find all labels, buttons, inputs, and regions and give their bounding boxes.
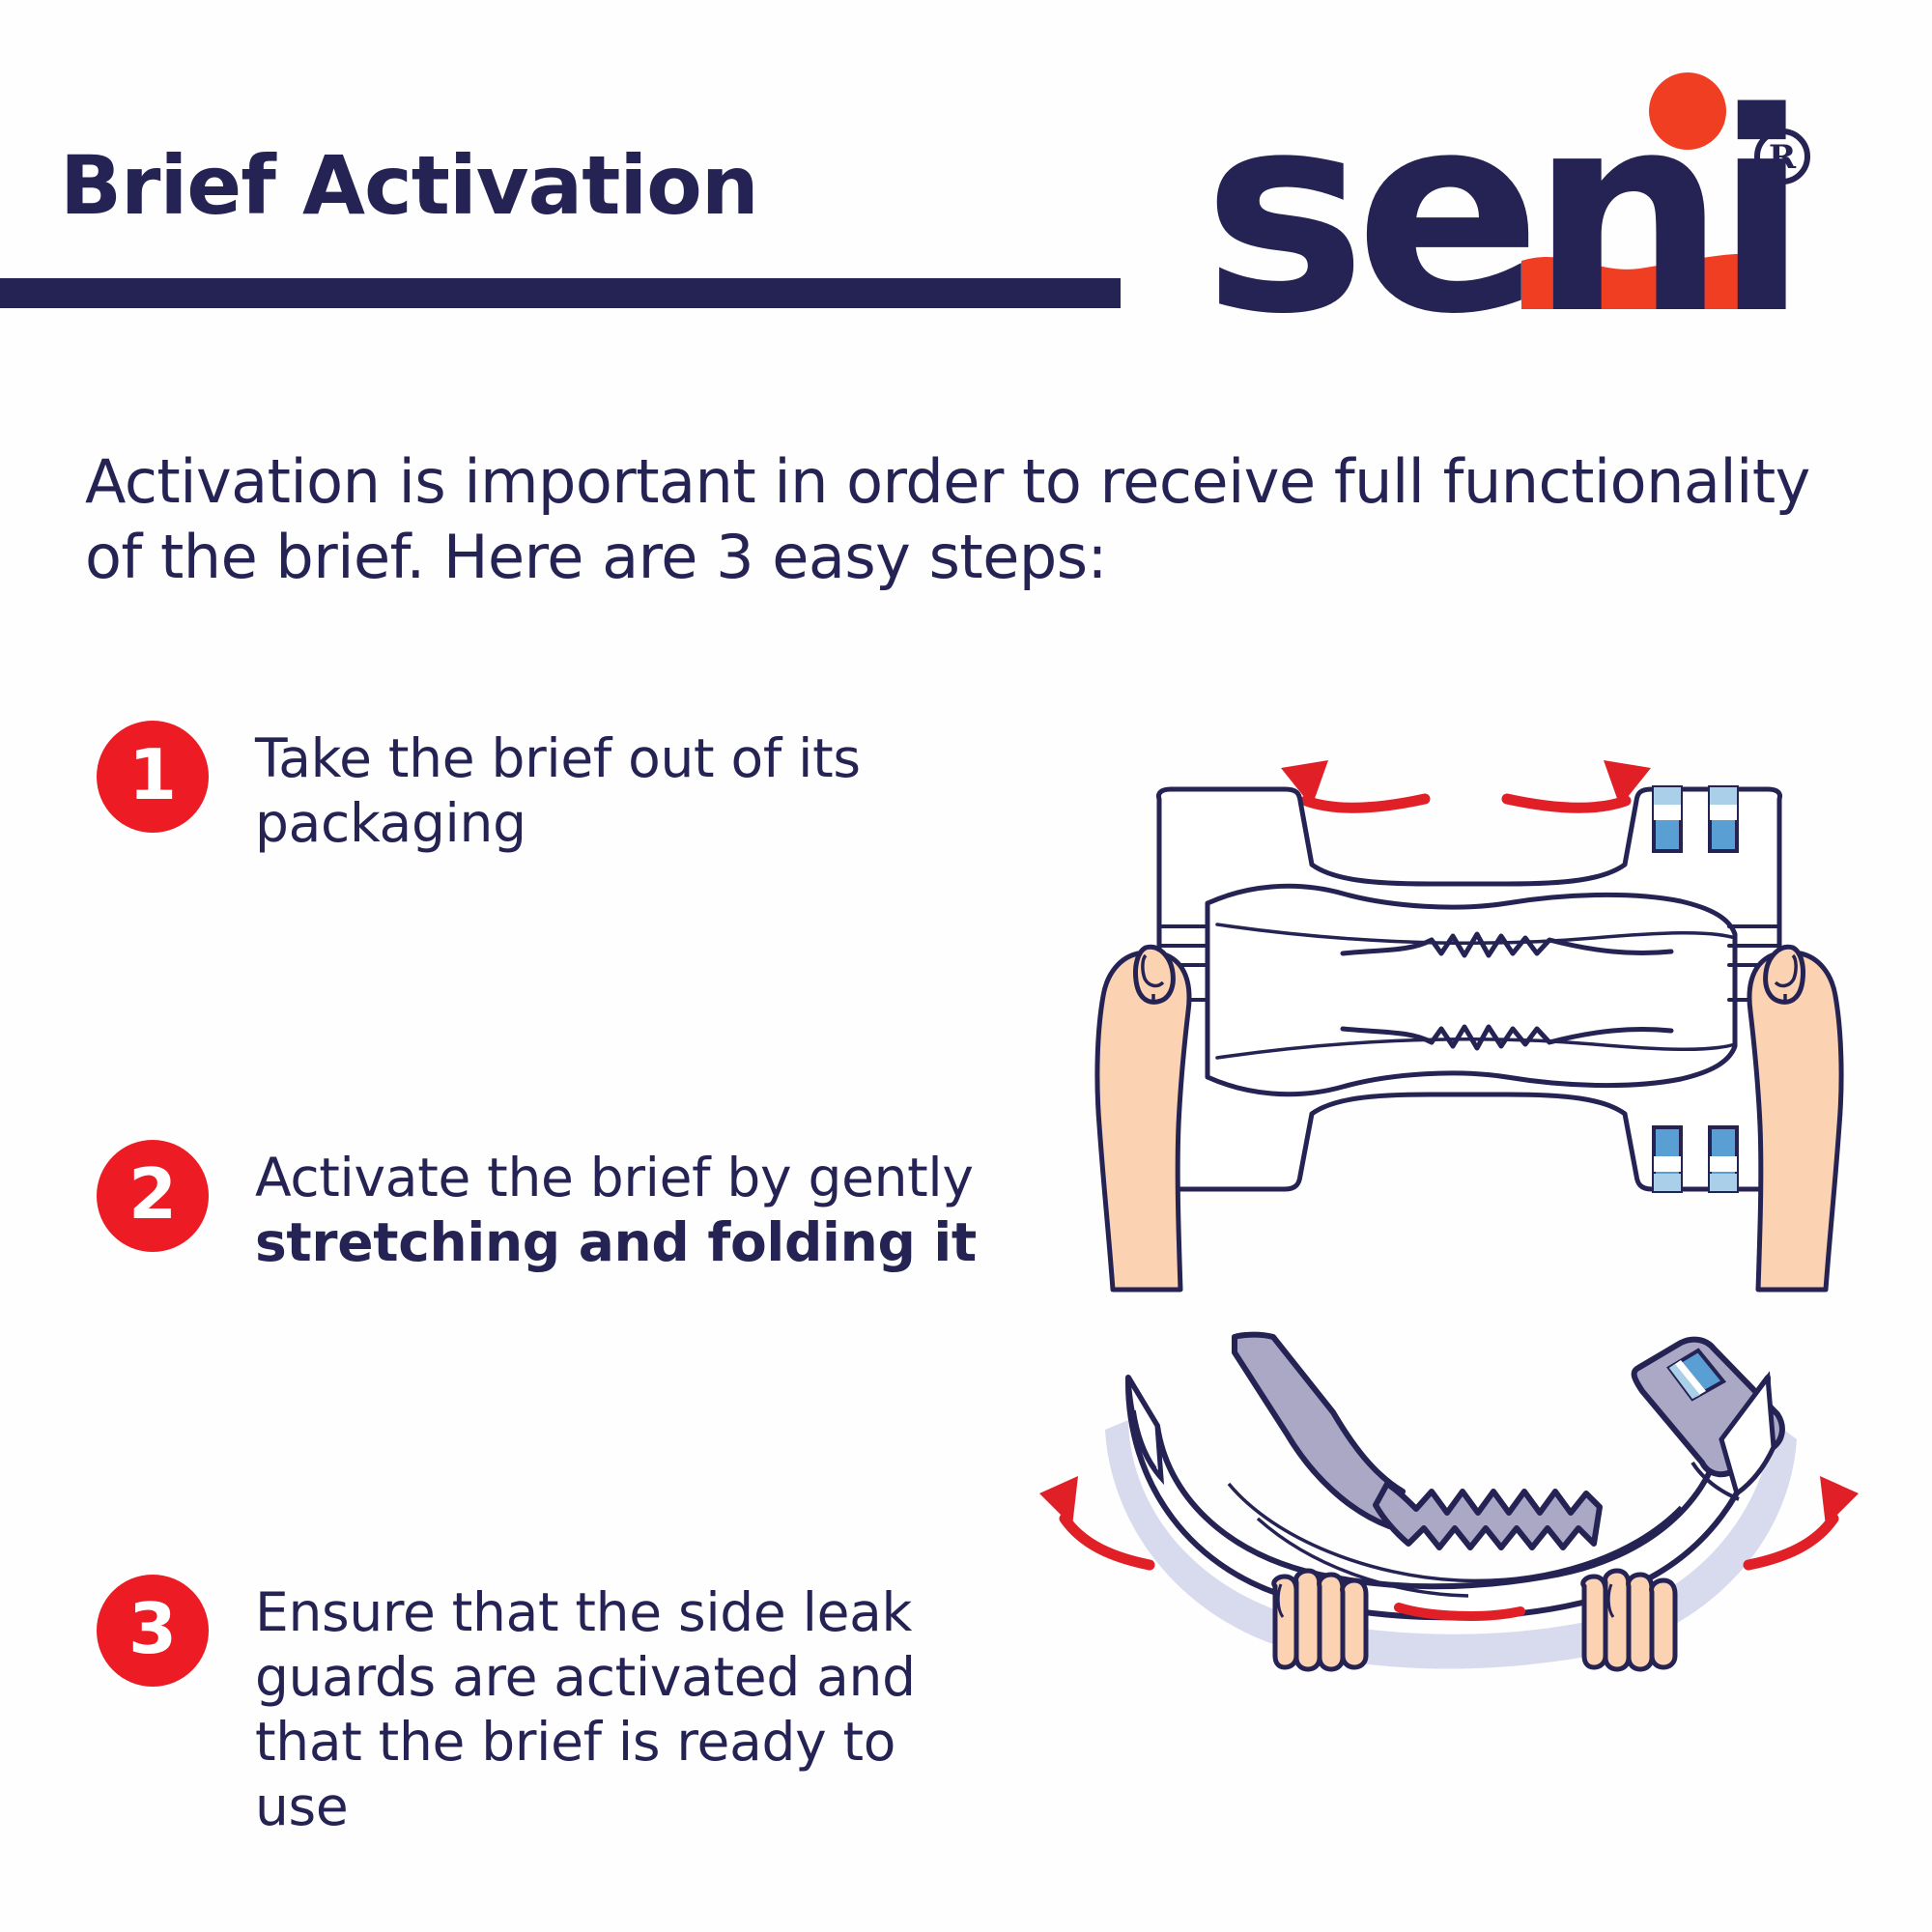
fastening-tab-bottom-2	[1710, 1127, 1737, 1191]
step-number-badge-1: 1	[97, 721, 209, 833]
step-number-badge-3: 3	[97, 1575, 209, 1687]
step-text-bold-2: stretching and folding it	[255, 1211, 977, 1273]
step-text-3: Ensure that the side leak guards are act…	[255, 1575, 989, 1839]
list-item: 1 Take the brief out of its packaging	[97, 721, 1024, 856]
step-text-lead-2: Activate the brief by gently	[255, 1147, 974, 1208]
infographic-page: Brief Activation seni R Activation is im…	[0, 0, 1932, 1932]
list-item: 3 Ensure that the side leak guards are a…	[97, 1575, 1024, 1839]
logo-wordmark: seni	[1203, 68, 1798, 314]
steps-list: 1 Take the brief out of its packaging 2 …	[0, 0, 1024, 1932]
brief-core-panel	[1207, 886, 1735, 1094]
fastening-tab-bottom-1	[1654, 1127, 1681, 1191]
arrow-right-outward-icon	[1507, 760, 1651, 808]
illustration-brief-folded	[1005, 1294, 1893, 1739]
fingers-left-icon	[1274, 1571, 1366, 1669]
fingers-right-icon	[1583, 1571, 1675, 1669]
leak-guard-wave-bottom	[1376, 1484, 1600, 1548]
list-item: 2 Activate the brief by gently stretchin…	[97, 1140, 1024, 1275]
step-text-2: Activate the brief by gently stretching …	[255, 1140, 989, 1275]
fastening-tab-top-2	[1710, 787, 1737, 851]
seni-logo: seni R	[1203, 68, 1821, 314]
illustration-brief-stretched	[1053, 710, 1884, 1309]
step-number-badge-2: 2	[97, 1140, 209, 1252]
svg-text:R: R	[1769, 138, 1797, 177]
step-text-1: Take the brief out of its packaging	[255, 721, 989, 856]
hand-right-icon	[1749, 947, 1841, 1290]
hand-left-icon	[1097, 947, 1189, 1290]
step-text-lead-1: Take the brief out of its packaging	[255, 727, 861, 854]
step-text-lead-3: Ensure that the side leak guards are act…	[255, 1581, 916, 1837]
fastening-tab-top-1	[1654, 787, 1681, 851]
